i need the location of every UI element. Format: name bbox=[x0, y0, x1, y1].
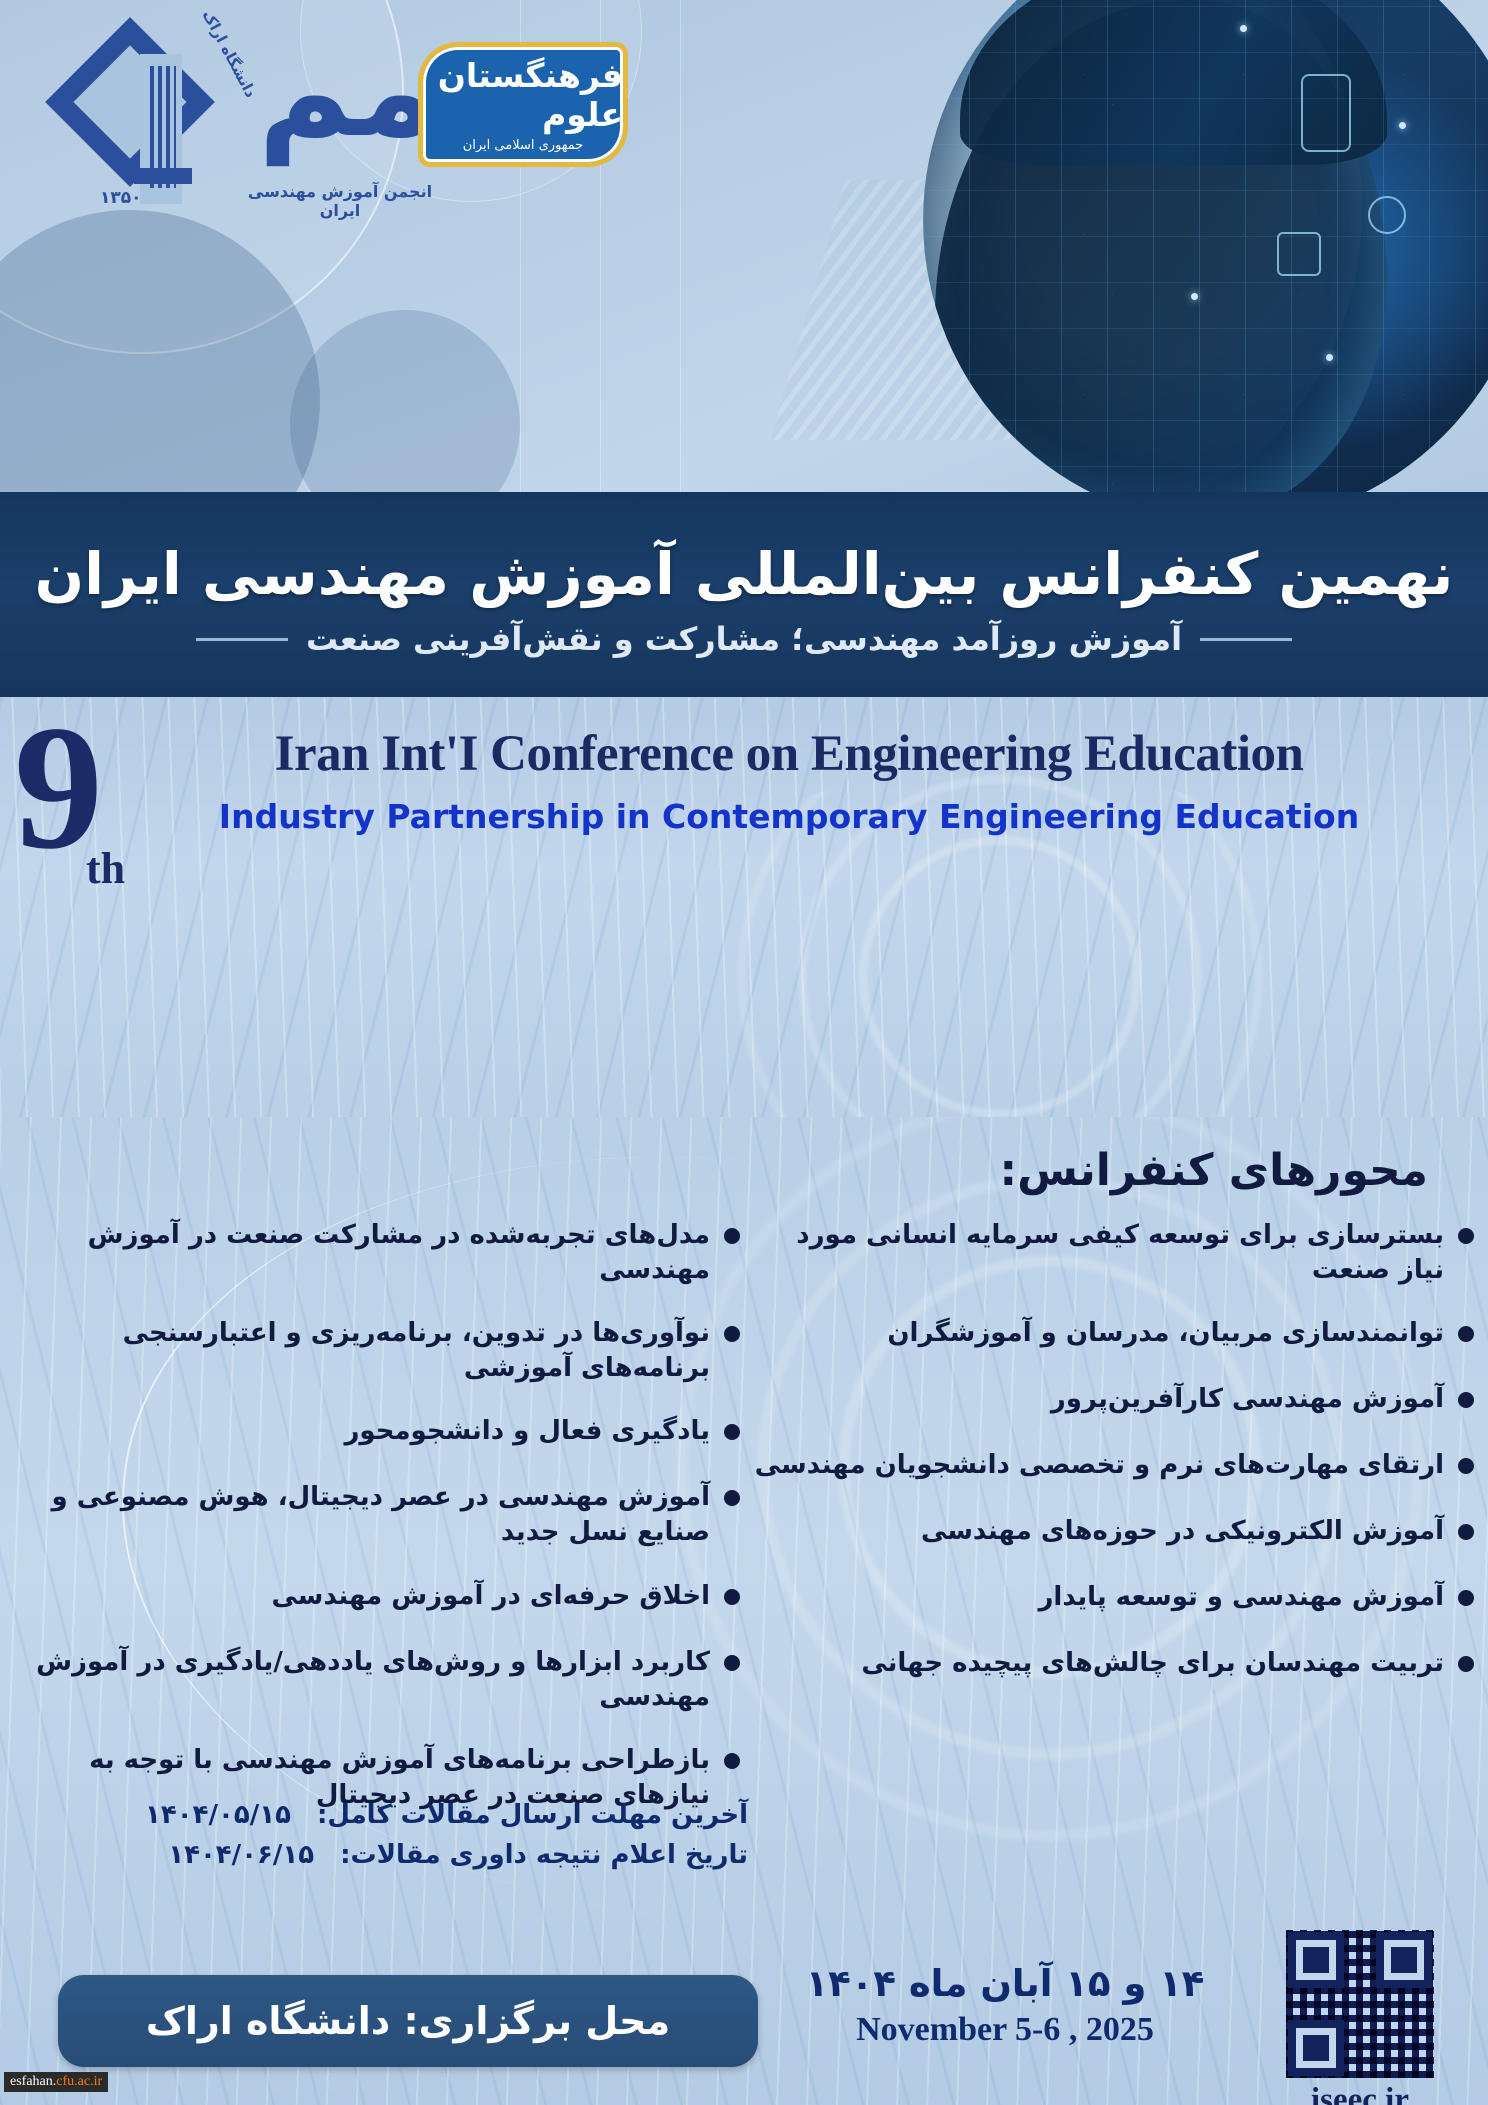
topic-item: ارتقای مهارت‌های نرم و تخصصی دانشجویان م… bbox=[754, 1448, 1474, 1486]
topics-columns: بسترسازی برای توسعه کیفی سرمایه انسانی م… bbox=[0, 1218, 1488, 1818]
conference-dates: ۱۴ و ۱۵ آبان ماه ۱۴۰۴ November 5-6 , 202… bbox=[790, 1962, 1220, 2049]
bullet-icon bbox=[1458, 1326, 1474, 1342]
topic-item: آموزش مهندسی و توسعه پایدار bbox=[754, 1580, 1474, 1618]
circuit-overlay bbox=[923, 0, 1488, 492]
topic-label: اخلاق حرفه‌ای در آموزش مهندسی bbox=[271, 1579, 710, 1614]
qr-finder-top-right bbox=[1376, 1932, 1432, 1988]
persian-conference-title: نهمین کنفرانس بین‌المللی آموزش مهندسی ای… bbox=[0, 540, 1488, 608]
bullet-icon bbox=[724, 1424, 740, 1440]
topic-item: توانمندسازی مربیان، مدرسان و آموزشگران bbox=[754, 1316, 1474, 1354]
edition-number: 9 bbox=[14, 715, 103, 861]
qr-finder-bottom-left bbox=[1288, 2020, 1344, 2076]
topics-heading: محورهای کنفرانس: bbox=[999, 1145, 1428, 1196]
bullet-icon bbox=[1458, 1590, 1474, 1606]
bullet-icon bbox=[724, 1655, 740, 1671]
english-title-band: 9 th Iran Int'I Conference on Engineerin… bbox=[0, 697, 1488, 1117]
home-icon bbox=[1277, 232, 1321, 276]
qr-block[interactable]: iseec.ir bbox=[1270, 1930, 1450, 2105]
watermark-suffix: cfu.ac.ir bbox=[56, 2074, 102, 2089]
arak-university-logo: دانشگاه اراک ۱۳۵۰ bbox=[48, 18, 223, 213]
bullet-icon bbox=[1458, 1524, 1474, 1540]
topics-right-column: بسترسازی برای توسعه کیفی سرمایه انسانی م… bbox=[754, 1218, 1474, 1712]
academy-frame: فرهنگستان علوم جمهوری اسلامی ایران bbox=[418, 42, 628, 167]
persian-subtitle-row: آموزش روزآمد مهندسی؛ مشارکت و نقش‌آفرینی… bbox=[0, 620, 1488, 658]
venue-badge: محل برگزاری: دانشگاه اراک bbox=[58, 1975, 758, 2067]
bullet-icon bbox=[724, 1490, 740, 1506]
topic-item: نوآوری‌ها در تدوین، برنامه‌ریزی و اعتبار… bbox=[14, 1316, 740, 1386]
rule-left bbox=[1200, 638, 1292, 641]
iranian-engineering-education-society-logo: مم انجمن آموزش مهندسی ایران bbox=[240, 22, 440, 222]
engineer-photo bbox=[923, 0, 1488, 492]
topic-label: آموزش مهندسی و توسعه پایدار bbox=[1038, 1580, 1444, 1615]
topic-label: یادگیری فعال و دانشجومحور bbox=[344, 1414, 710, 1449]
topic-label: مدل‌های تجربه‌شده در مشارکت صنعت در آموز… bbox=[14, 1218, 710, 1288]
conference-poster: دانشگاه اراک ۱۳۵۰ مم انجمن آموزش مهندسی … bbox=[0, 0, 1488, 2105]
title-band: نهمین کنفرانس بین‌المللی آموزش مهندسی ای… bbox=[0, 492, 1488, 697]
deadline-label: تاریخ اعلام نتیجه داوری مقالات: bbox=[340, 1835, 748, 1875]
topic-item: آموزش الکترونیکی در حوزه‌های مهندسی bbox=[754, 1514, 1474, 1552]
deadline-row: آخرین مهلت ارسال مقالات کامل: ۱۴۰۴/۰۵/۱۵ bbox=[128, 1795, 748, 1835]
arak-logo-year: ۱۳۵۰ bbox=[100, 188, 142, 208]
topic-label: توانمندسازی مربیان، مدرسان و آموزشگران bbox=[887, 1316, 1444, 1351]
bullet-icon bbox=[1458, 1228, 1474, 1244]
deadline-value: ۱۴۰۴/۰۶/۱۵ bbox=[168, 1835, 314, 1875]
topic-item: یادگیری فعال و دانشجومحور bbox=[14, 1414, 740, 1452]
bullet-icon bbox=[724, 1753, 740, 1769]
topic-item: مدل‌های تجربه‌شده در مشارکت صنعت در آموز… bbox=[14, 1218, 740, 1288]
date-english: November 5-6 , 2025 bbox=[790, 2011, 1220, 2049]
isee-logo-caption: انجمن آموزش مهندسی ایران bbox=[240, 182, 440, 220]
academy-logo-line2: جمهوری اسلامی ایران bbox=[463, 138, 584, 153]
decor-circle-small bbox=[290, 310, 520, 492]
phone-icon bbox=[1301, 74, 1351, 152]
bullet-icon bbox=[724, 1228, 740, 1244]
watermark-prefix: esfahan. bbox=[10, 2074, 56, 2089]
topic-label: ارتقای مهارت‌های نرم و تخصصی دانشجویان م… bbox=[755, 1448, 1444, 1483]
bullet-icon bbox=[724, 1326, 740, 1342]
academy-logo-line1: فرهنگستان علوم bbox=[423, 56, 623, 134]
pillar-base bbox=[134, 168, 192, 184]
hero-banner: دانشگاه اراک ۱۳۵۰ مم انجمن آموزش مهندسی … bbox=[0, 0, 1488, 492]
deadline-value: ۱۴۰۴/۰۵/۱۵ bbox=[145, 1795, 291, 1835]
date-persian: ۱۴ و ۱۵ آبان ماه ۱۴۰۴ bbox=[790, 1962, 1220, 2005]
bullet-icon bbox=[1458, 1458, 1474, 1474]
qr-finder-top-left bbox=[1288, 1932, 1344, 1988]
academy-of-sciences-logo: فرهنگستان علوم جمهوری اسلامی ایران bbox=[418, 42, 628, 167]
topic-item: آموزش مهندسی کارآفرین‌پرور bbox=[754, 1382, 1474, 1420]
logo-row: دانشگاه اراک ۱۳۵۰ مم انجمن آموزش مهندسی … bbox=[0, 0, 760, 250]
topic-item: تربیت مهندسان برای چالش‌های پیچیده جهانی bbox=[754, 1646, 1474, 1684]
topic-label: کاربرد ابزارها و روش‌های یاددهی/یادگیری … bbox=[14, 1645, 710, 1715]
topic-label: بسترسازی برای توسعه کیفی سرمایه انسانی م… bbox=[754, 1218, 1444, 1288]
topic-item: آموزش مهندسی در عصر دیجیتال، هوش مصنوعی … bbox=[14, 1480, 740, 1550]
topic-item: بسترسازی برای توسعه کیفی سرمایه انسانی م… bbox=[754, 1218, 1474, 1288]
topic-label: آموزش الکترونیکی در حوزه‌های مهندسی bbox=[921, 1514, 1444, 1549]
bullet-icon bbox=[1458, 1656, 1474, 1672]
isee-monogram: مم bbox=[258, 28, 438, 156]
topic-label: تربیت مهندسان برای چالش‌های پیچیده جهانی bbox=[861, 1646, 1444, 1681]
deadlines-block: آخرین مهلت ارسال مقالات کامل: ۱۴۰۴/۰۵/۱۵… bbox=[128, 1795, 748, 1876]
topic-label: آموزش مهندسی کارآفرین‌پرور bbox=[1051, 1382, 1444, 1417]
rule-right bbox=[196, 638, 288, 641]
deadline-row: تاریخ اعلام نتیجه داوری مقالات: ۱۴۰۴/۰۶/… bbox=[128, 1835, 748, 1875]
bullet-icon bbox=[1458, 1392, 1474, 1408]
node-icon bbox=[1368, 196, 1406, 234]
topic-label: آموزش مهندسی در عصر دیجیتال، هوش مصنوعی … bbox=[14, 1480, 710, 1550]
topic-item: اخلاق حرفه‌ای در آموزش مهندسی bbox=[14, 1579, 740, 1617]
topic-item: کاربرد ابزارها و روش‌های یاددهی/یادگیری … bbox=[14, 1645, 740, 1715]
english-conference-title: Iran Int'I Conference on Engineering Edu… bbox=[110, 725, 1468, 783]
topics-left-column: مدل‌های تجربه‌شده در مشارکت صنعت در آموز… bbox=[14, 1218, 740, 1841]
source-watermark: esfahan.cfu.ac.ir bbox=[4, 2072, 108, 2092]
deadline-label: آخرین مهلت ارسال مقالات کامل: bbox=[317, 1795, 748, 1835]
english-conference-subtitle: Industry Partnership in Contemporary Eng… bbox=[110, 797, 1468, 836]
bullet-icon bbox=[724, 1589, 740, 1605]
topic-label: نوآوری‌ها در تدوین، برنامه‌ریزی و اعتبار… bbox=[14, 1316, 710, 1386]
edition-ordinal: th bbox=[86, 843, 125, 894]
persian-conference-subtitle: آموزش روزآمد مهندسی؛ مشارکت و نقش‌آفرینی… bbox=[306, 620, 1182, 658]
conference-website-url[interactable]: iseec.ir bbox=[1270, 2082, 1450, 2105]
qr-code-icon[interactable] bbox=[1286, 1930, 1434, 2078]
